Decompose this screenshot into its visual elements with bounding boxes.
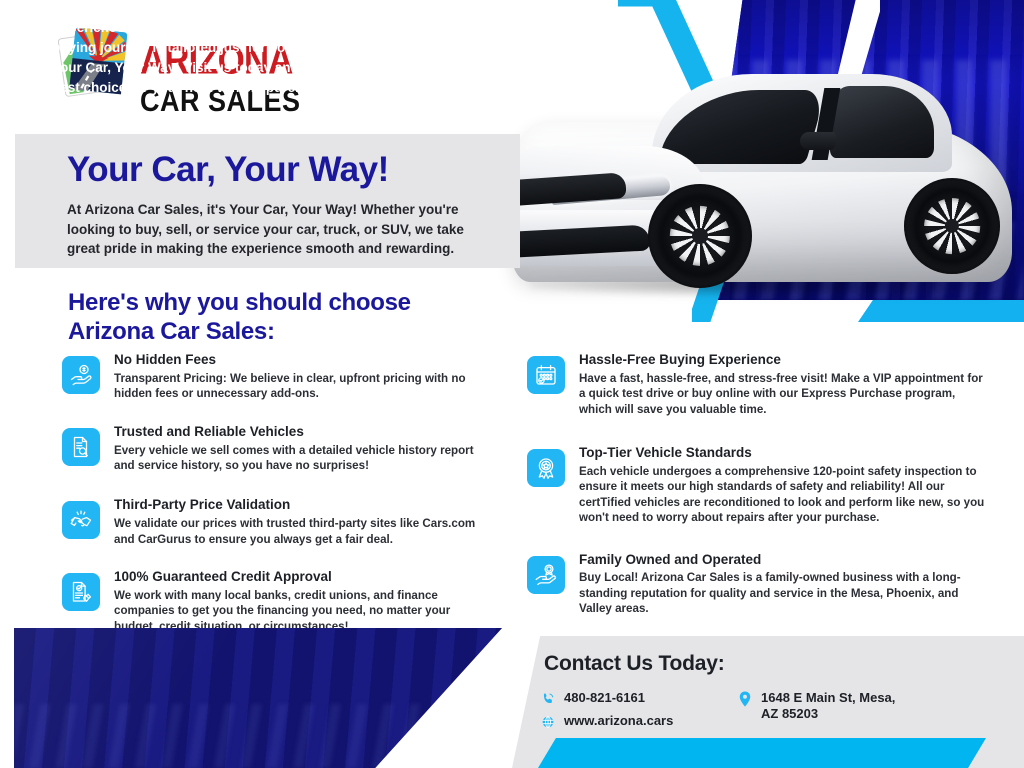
contact-column-address: 1648 E Main St, Mesa, AZ 85203 xyxy=(737,690,895,728)
contact-heading: Contact Us Today: xyxy=(544,652,725,676)
feature-item: Hassle-Free Buying Experience Have a fas… xyxy=(527,352,987,417)
feature-text: No Hidden Fees Transparent Pricing: We b… xyxy=(114,352,492,402)
feature-desc: Transparent Pricing: We believe in clear… xyxy=(114,371,492,402)
feature-title: Third-Party Price Validation xyxy=(114,497,492,514)
feature-desc: We validate our prices with trusted thir… xyxy=(114,516,492,547)
calendar-icon xyxy=(527,356,565,394)
car-side-mirror xyxy=(800,132,836,150)
flyer-page: ARIZONA CAR SALES Your Car, Your Way! At… xyxy=(0,0,1024,768)
car-rear-rim xyxy=(924,198,980,254)
feature-desc: Each vehicle undergoes a comprehensive 1… xyxy=(579,464,987,526)
feature-title: Trusted and Reliable Vehicles xyxy=(114,424,492,441)
feature-text: Hassle-Free Buying Experience Have a fas… xyxy=(579,352,987,417)
feature-title: No Hidden Fees xyxy=(114,352,492,369)
phone-number: 480-821-6161 xyxy=(564,690,645,706)
feature-text: Third-Party Price Validation We validate… xyxy=(114,497,492,547)
contact-website-row[interactable]: www.arizona.cars xyxy=(540,713,673,730)
feature-text: Family Owned and Operated Buy Local! Ari… xyxy=(579,552,987,617)
cta-panel-texture xyxy=(14,704,502,768)
website-url: www.arizona.cars xyxy=(564,713,673,729)
feature-title: Family Owned and Operated xyxy=(579,552,987,569)
handshake-icon xyxy=(62,501,100,539)
award-badge-star-icon xyxy=(527,449,565,487)
feature-title: 100% Guaranteed Credit Approval xyxy=(114,569,492,586)
contact-phone-row[interactable]: 480-821-6161 xyxy=(540,690,673,707)
contact-address-row[interactable]: 1648 E Main St, Mesa, AZ 85203 xyxy=(737,690,895,722)
feature-desc: Have a fast, hassle-free, and stress-fre… xyxy=(579,371,987,417)
hand-holding-badge-icon xyxy=(527,556,565,594)
feature-title: Top-Tier Vehicle Standards xyxy=(579,445,987,462)
feature-desc: Every vehicle we sell comes with a detai… xyxy=(114,443,492,474)
street-address: 1648 E Main St, Mesa, AZ 85203 xyxy=(761,690,895,722)
contact-column-primary: 480-821-6161 www.arizona.cars xyxy=(540,690,673,736)
features-right-column: Hassle-Free Buying Experience Have a fas… xyxy=(527,352,987,631)
hero-subtitle: At Arizona Car Sales, it's Your Car, You… xyxy=(67,200,497,259)
feature-title: Hassle-Free Buying Experience xyxy=(579,352,987,369)
feature-text: Top-Tier Vehicle Standards Each vehicle … xyxy=(579,445,987,526)
feature-item: Top-Tier Vehicle Standards Each vehicle … xyxy=(527,445,987,526)
hand-holding-dollar-icon xyxy=(62,356,100,394)
car-front-rim xyxy=(670,206,730,266)
feature-item: Trusted and Reliable Vehicles Every vehi… xyxy=(62,424,492,474)
document-approved-check-icon xyxy=(62,573,100,611)
car-front-wheel xyxy=(648,184,752,288)
feature-item: 100% Guaranteed Credit Approval We work … xyxy=(62,569,492,634)
feature-item: Third-Party Price Validation We validate… xyxy=(62,497,492,547)
why-choose-heading: Here's why you should choose Arizona Car… xyxy=(68,288,498,347)
cta-text: Experience the Arizona Car Sales advanta… xyxy=(52,18,452,98)
phone-icon xyxy=(540,690,555,707)
cyan-bar-accent-bottom xyxy=(538,738,986,768)
car-image xyxy=(500,60,1024,340)
car-rear-wheel xyxy=(904,178,1000,274)
feature-item: Family Owned and Operated Buy Local! Ari… xyxy=(527,552,987,617)
globe-icon xyxy=(540,713,555,730)
hero-band: Your Car, Your Way! At Arizona Car Sales… xyxy=(15,134,520,268)
feature-desc: Buy Local! Arizona Car Sales is a family… xyxy=(579,570,987,616)
document-search-icon xyxy=(62,428,100,466)
features-left-column: No Hidden Fees Transparent Pricing: We b… xyxy=(62,352,492,648)
hero-title: Your Car, Your Way! xyxy=(67,150,389,190)
feature-text: 100% Guaranteed Credit Approval We work … xyxy=(114,569,492,634)
feature-desc: We work with many local banks, credit un… xyxy=(114,588,492,634)
cta-panel xyxy=(14,628,502,768)
feature-text: Trusted and Reliable Vehicles Every vehi… xyxy=(114,424,492,474)
feature-item: No Hidden Fees Transparent Pricing: We b… xyxy=(62,352,492,402)
location-pin-icon xyxy=(737,690,752,707)
